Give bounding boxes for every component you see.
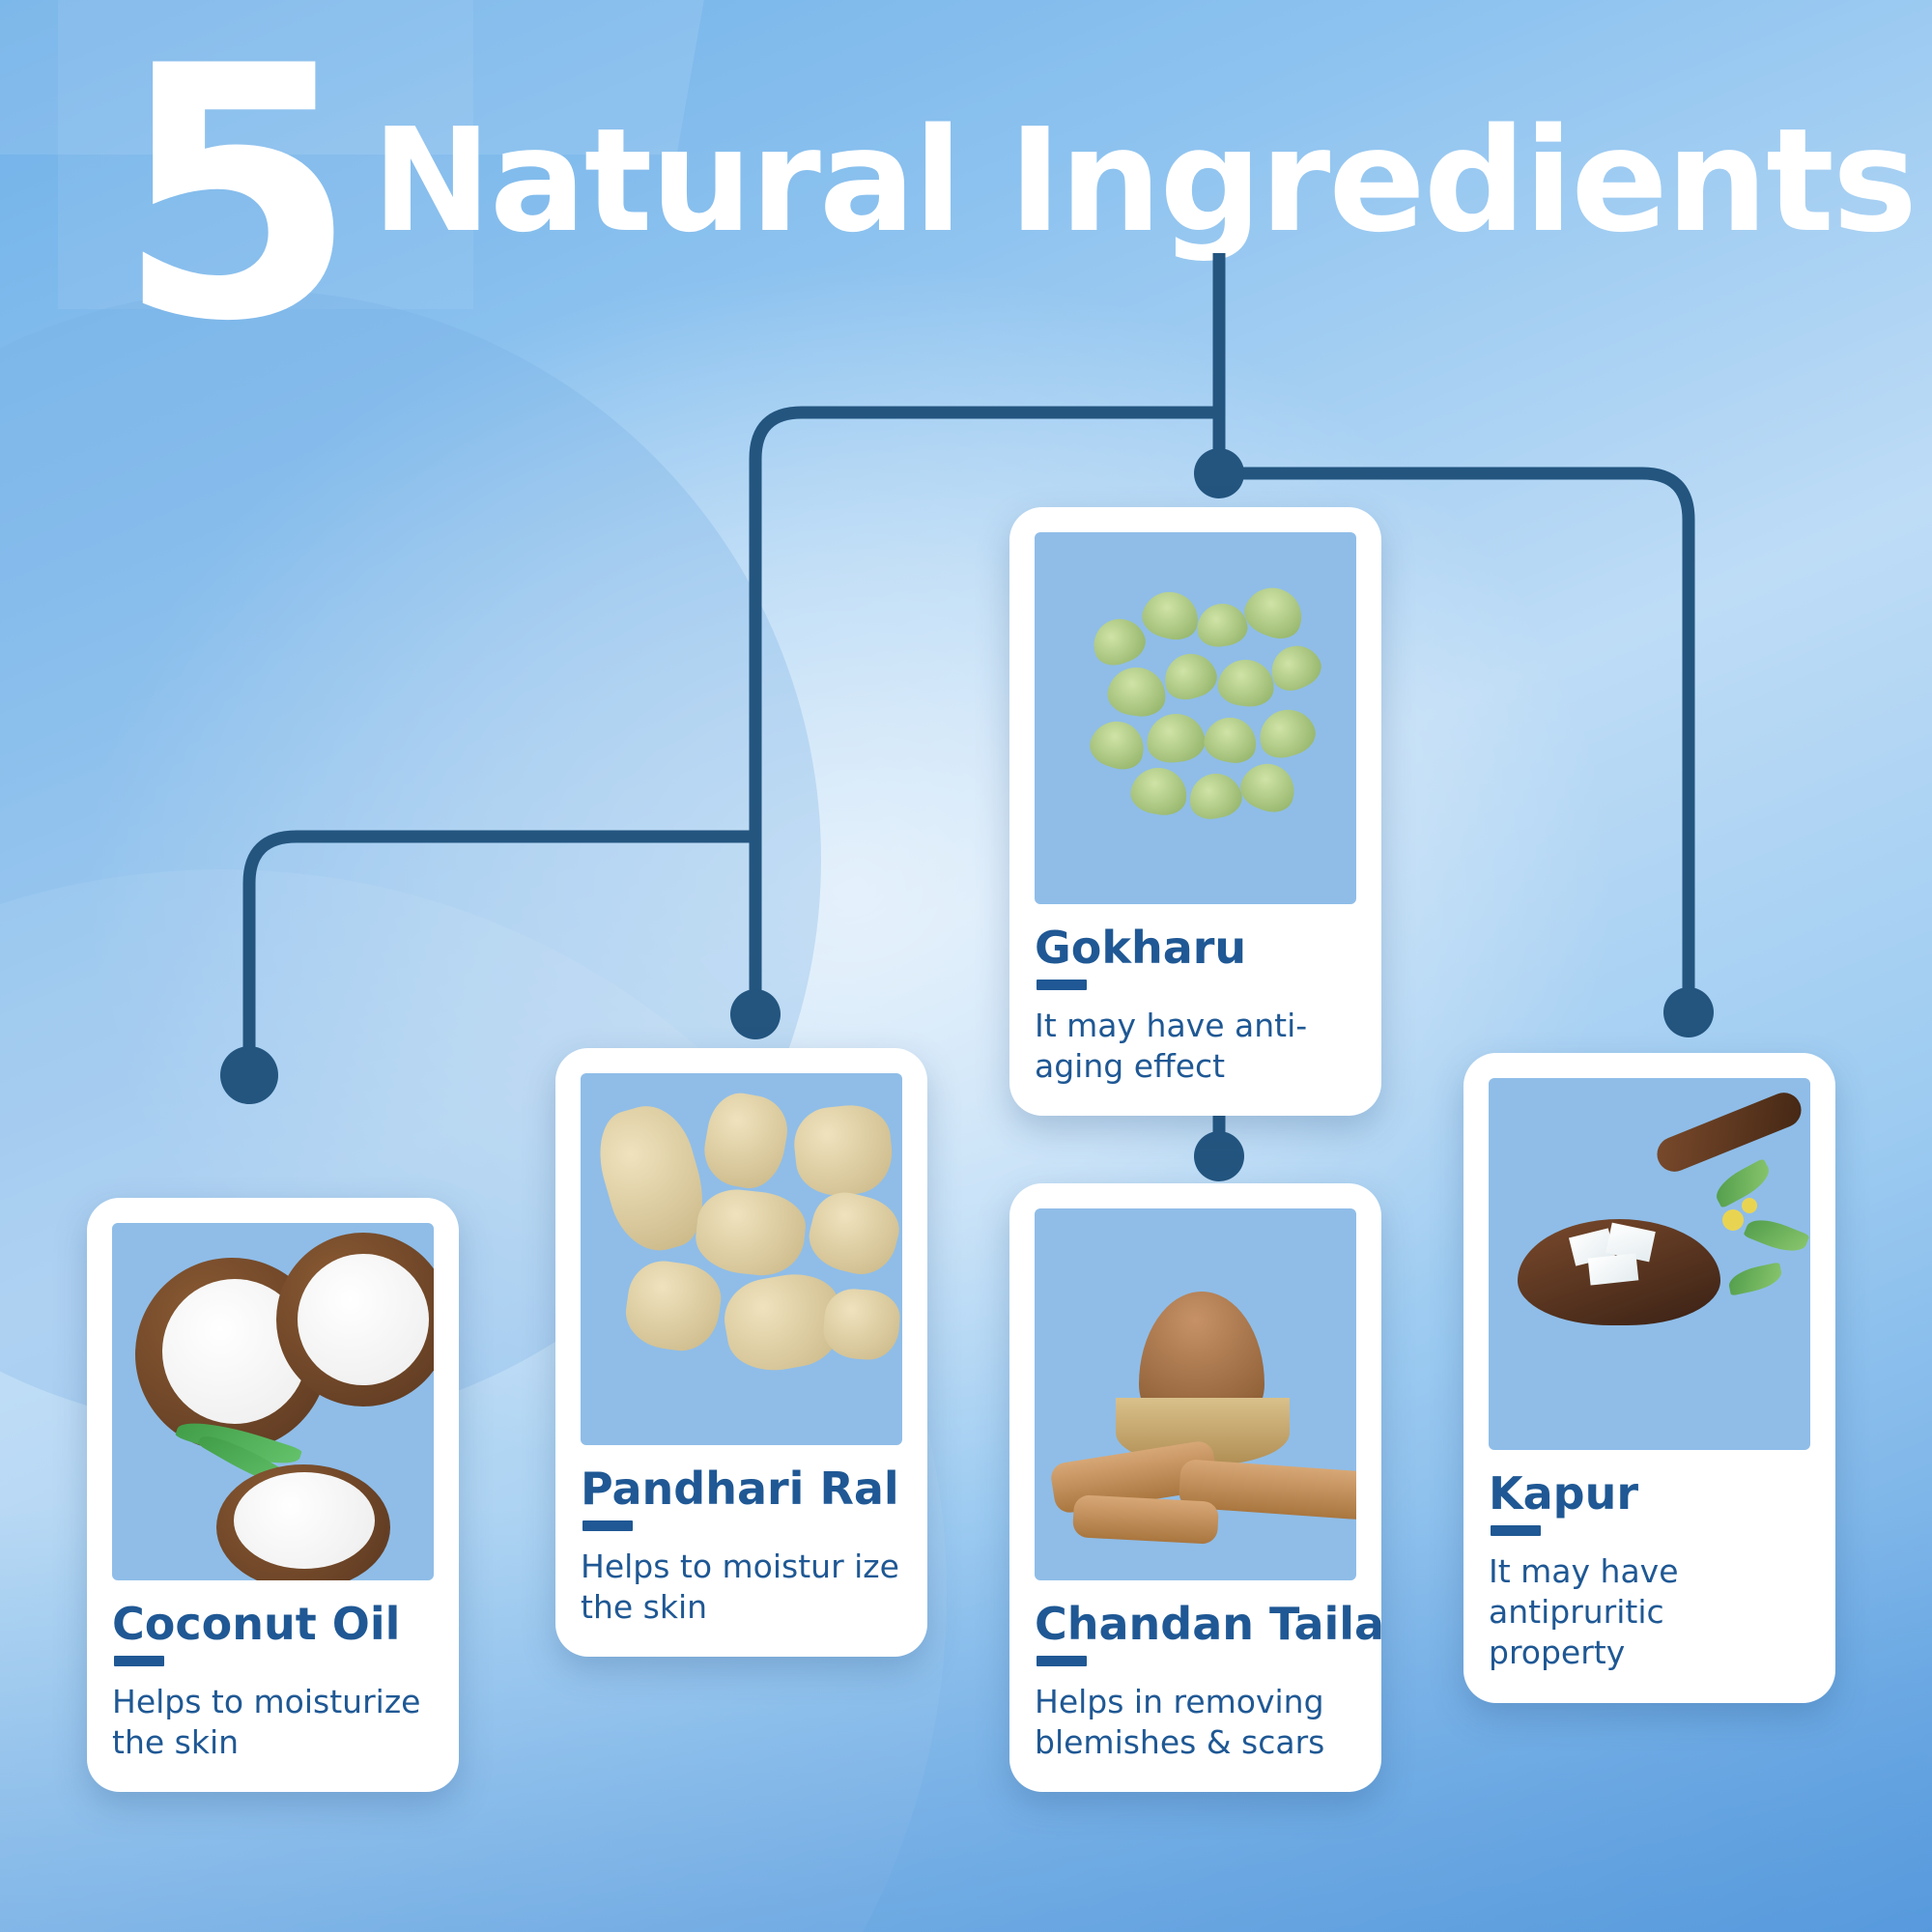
- coconut-photo: [112, 1223, 434, 1580]
- connector-node-pandhari: [730, 989, 781, 1039]
- title-underline-accent: [1491, 1525, 1541, 1536]
- connector-branch-coconut: [249, 837, 755, 1053]
- card-description: It may have antipruritic property: [1489, 1551, 1810, 1674]
- connector-node-kapur: [1663, 987, 1714, 1037]
- connector-node-coconut: [220, 1046, 278, 1104]
- infographic-canvas: 5 Natural Ingredients: [0, 0, 1932, 1932]
- card-title: Coconut Oil: [112, 1602, 434, 1647]
- ingredient-card-pandhari-ral[interactable]: Pandhari Ral Helps to moistur ize the sk…: [555, 1048, 927, 1657]
- card-title: Chandan Taila: [1035, 1602, 1356, 1647]
- kapur-crystals-photo: [1489, 1078, 1810, 1450]
- title-underline-accent: [1037, 980, 1087, 990]
- connector-node-junction: [1194, 448, 1244, 498]
- connector-node-chandan: [1194, 1131, 1244, 1181]
- pandhari-ral-resin-photo: [581, 1073, 902, 1445]
- card-title: Gokharu: [1035, 925, 1356, 971]
- card-description: Helps to moistur ize the skin: [581, 1547, 902, 1628]
- title-underline-accent: [114, 1656, 164, 1666]
- chandan-powder-photo: [1035, 1208, 1356, 1580]
- ingredient-card-gokharu[interactable]: Gokharu It may have anti-aging effect: [1009, 507, 1381, 1116]
- card-description: It may have anti-aging effect: [1035, 1006, 1356, 1087]
- card-title: Kapur: [1489, 1471, 1810, 1517]
- card-title: Pandhari Ral: [581, 1466, 902, 1512]
- ingredient-card-kapur[interactable]: Kapur It may have antipruritic property: [1463, 1053, 1835, 1703]
- gokharu-pods-photo: [1035, 532, 1356, 904]
- ingredient-card-chandan-taila[interactable]: Chandan Taila Helps in removing blemishe…: [1009, 1183, 1381, 1792]
- card-description: Helps to moisturize the skin: [112, 1682, 434, 1763]
- title-underline-accent: [1037, 1656, 1087, 1666]
- title-underline-accent: [582, 1520, 633, 1531]
- ingredient-card-coconut[interactable]: Coconut Oil Helps to moisturize the skin: [87, 1198, 459, 1792]
- card-description: Helps in removing blemishes & scars: [1035, 1682, 1356, 1763]
